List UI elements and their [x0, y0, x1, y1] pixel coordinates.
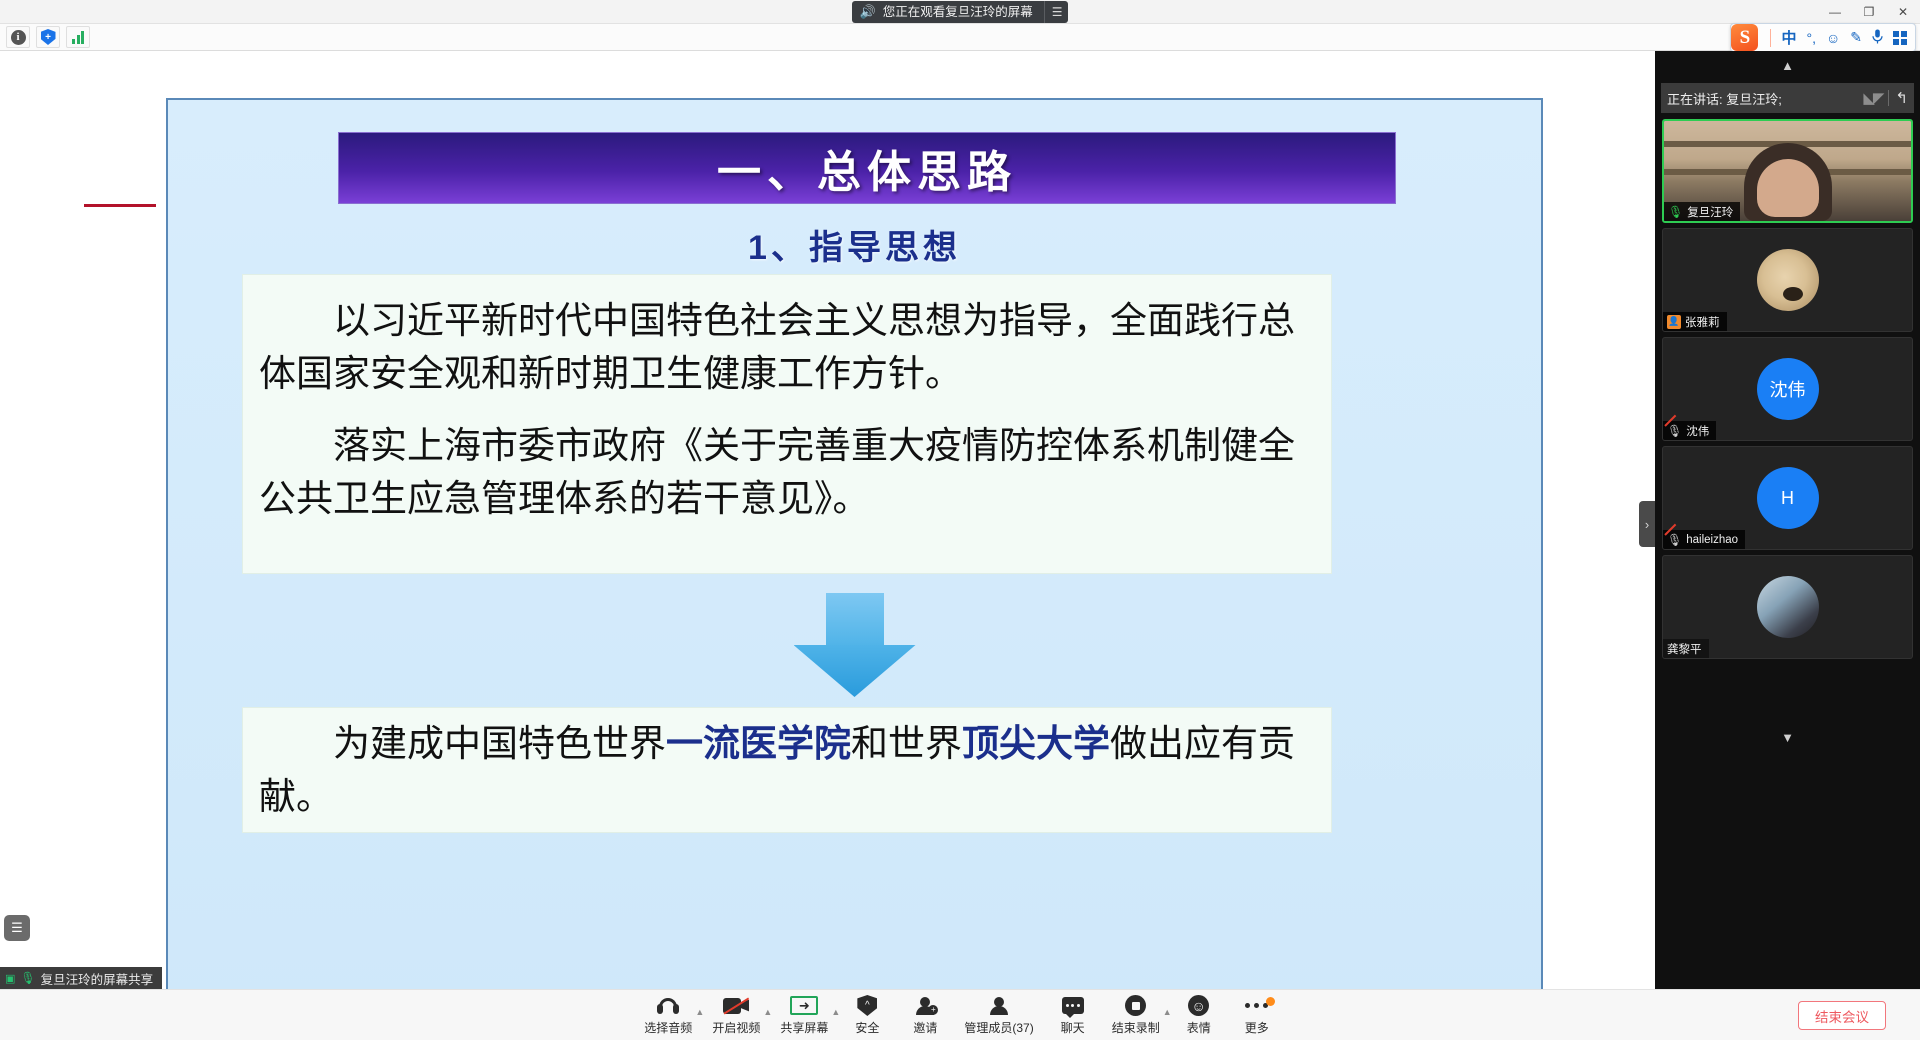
toolbar-label: 开启视频: [712, 1019, 760, 1036]
slide-paragraph-2: 落实上海市委市政府《关于完善重大疫情防控体系机制健全公共卫生应急管理体系的若干意…: [243, 400, 1331, 525]
security-button[interactable]: +: [36, 26, 60, 48]
hamburger-menu-icon[interactable]: ☰: [1044, 1, 1063, 23]
speaker-icon: 🔊: [860, 1, 876, 23]
toolbar-item-chat[interactable]: 聊天: [1044, 990, 1102, 1040]
participant-avatar: [1757, 249, 1819, 311]
participant-tile[interactable]: 龚黎平: [1662, 555, 1913, 659]
mic-small-icon: 🎙: [20, 971, 35, 985]
slide-conclusion: 为建成中国特色世界一流医学院和世界顶尖大学做出应有贡献。: [243, 708, 1331, 823]
conclusion-highlight-2: 顶尖大学: [962, 722, 1110, 765]
notification-badge: [1266, 997, 1275, 1006]
toolbar-item-share-screen[interactable]: ➜ 共享屏幕 ▲: [770, 990, 838, 1040]
participant-name: haileizhao: [1686, 534, 1738, 546]
slide-subtitle: 1、指导思想: [168, 220, 1541, 269]
participant-tile[interactable]: 🎙 复旦汪玲: [1662, 119, 1913, 223]
conclusion-highlight-1: 一流医学院: [666, 722, 851, 765]
mic-off-icon: 🎙: [1667, 424, 1682, 438]
info-button[interactable]: i: [6, 26, 30, 48]
toolbar-item-emoji[interactable]: ☺ 表情: [1170, 990, 1228, 1040]
participant-name: 复旦汪玲: [1687, 204, 1733, 220]
participant-name: 张雅莉: [1685, 314, 1720, 330]
toolbar-label: 更多: [1245, 1019, 1269, 1036]
meeting-toolbar: 选择音频 ▲ 开启视频 ▲ ➜ 共享屏幕 ▲ ^ 安全 + 邀请 管理成员(37…: [0, 989, 1920, 1040]
toolbar-label: 邀请: [913, 1019, 937, 1036]
active-speaker-label: 正在讲话: 复旦汪玲;: [1667, 89, 1857, 108]
conclusion-pre: 为建成中国特色世界: [333, 722, 666, 765]
ime-grid-icon[interactable]: [1893, 31, 1907, 45]
ime-punctuation-icon[interactable]: °,: [1806, 30, 1816, 46]
participant-tile[interactable]: H 🎙 haileizhao: [1662, 446, 1913, 550]
invite-person-icon: +: [915, 995, 935, 1017]
slide-title-banner: 一、总体思路: [338, 132, 1396, 204]
toolbar-label: 聊天: [1061, 1019, 1085, 1036]
ime-language-mode[interactable]: 中: [1781, 27, 1796, 48]
info-icon: i: [11, 30, 26, 45]
manage-members-icon: [989, 995, 1009, 1017]
network-button[interactable]: [66, 26, 90, 48]
headset-icon: [657, 995, 679, 1017]
screen-share-label: ▣ 🎙 复旦汪玲的屏幕共享: [0, 967, 162, 989]
shared-screen-stage: 一、总体思路 1、指导思想 以习近平新时代中国特色社会主义思想为指导，全面践行总…: [0, 51, 1655, 989]
participant-namebar: 龚黎平: [1663, 639, 1709, 658]
slide-body-box: 以习近平新时代中国特色社会主义思想为指导，全面践行总体国家安全观和新时期卫生健康…: [242, 274, 1332, 574]
toolbar-label: 表情: [1187, 1019, 1211, 1036]
mic-off-icon: 🎙: [1667, 533, 1682, 547]
participant-avatar: [1757, 576, 1819, 638]
watching-screen-pill[interactable]: 🔊 您正在观看复旦汪玲的屏幕 ☰: [852, 1, 1069, 23]
multi-view-icon[interactable]: ◣◤: [1863, 89, 1882, 107]
participant-avatar: H: [1757, 467, 1819, 529]
participant-tile[interactable]: 沈伟 🎙 沈伟: [1662, 337, 1913, 441]
presentation-slide: 一、总体思路 1、指导思想 以习近平新时代中国特色社会主义思想为指导，全面践行总…: [166, 98, 1543, 1013]
toolbar-item-video[interactable]: 开启视频 ▲: [702, 990, 770, 1040]
speaker-bar-divider: [1888, 90, 1889, 106]
chat-list-icon[interactable]: ☰: [4, 915, 30, 941]
toolbar-label: 结束录制: [1112, 1019, 1160, 1036]
share-screen-small-icon: ▣: [5, 972, 15, 985]
chat-icon: [1062, 995, 1084, 1017]
window-controls: — ❐ ✕: [1818, 0, 1920, 24]
toolbar-item-invite[interactable]: + 邀请: [896, 990, 954, 1040]
decor-line-left: [84, 204, 156, 207]
toolbar-item-audio[interactable]: 选择音频 ▲: [634, 990, 702, 1040]
ime-pen-icon[interactable]: ✎: [1850, 29, 1862, 46]
slide-paragraph-1: 以习近平新时代中国特色社会主义思想为指导，全面践行总体国家安全观和新时期卫生健康…: [243, 275, 1331, 400]
mic-on-icon: 🎙: [1668, 205, 1683, 219]
sogou-ime-toolbar[interactable]: S 中 °, ☺ ✎: [1730, 23, 1916, 52]
conclusion-mid: 和世界: [851, 722, 962, 765]
participant-namebar: 🎙 haileizhao: [1663, 530, 1745, 549]
ime-divider: [1770, 29, 1771, 47]
toolbar-item-more[interactable]: 更多: [1228, 990, 1286, 1040]
participant-name: 龚黎平: [1667, 641, 1702, 657]
participant-namebar: 👤 张雅莉: [1663, 312, 1727, 331]
toolbar-item-stop-record[interactable]: 结束录制 ▲: [1102, 990, 1170, 1040]
shield-plus-icon: +: [41, 29, 56, 45]
down-arrow-icon: [794, 593, 916, 697]
scroll-up-button[interactable]: ▲: [1655, 51, 1920, 79]
close-button[interactable]: ✕: [1886, 0, 1920, 24]
active-speaker-bar: 正在讲话: 复旦汪玲; ◣◤ ↰: [1661, 83, 1914, 113]
toolbar-item-security[interactable]: ^ 安全: [838, 990, 896, 1040]
participant-namebar: 🎙 复旦汪玲: [1664, 202, 1740, 221]
shield-icon: ^: [857, 995, 877, 1017]
minimize-button[interactable]: —: [1818, 0, 1852, 24]
participant-avatar: 沈伟: [1757, 358, 1819, 420]
restore-button[interactable]: ❐: [1852, 0, 1886, 24]
panel-collapse-handle[interactable]: ›: [1639, 501, 1655, 547]
sogou-logo-icon[interactable]: S: [1731, 24, 1758, 51]
tray-icon-group: i +: [6, 26, 90, 48]
window-title-bar: 🔊 您正在观看复旦汪玲的屏幕 ☰ — ❐ ✕: [0, 0, 1920, 24]
signal-bars-icon: [72, 31, 84, 44]
toolbar-item-manage-members[interactable]: 管理成员(37): [954, 990, 1043, 1040]
participant-tile[interactable]: 👤 张雅莉: [1662, 228, 1913, 332]
more-dots-icon: [1245, 995, 1268, 1017]
emoji-icon: ☺: [1188, 995, 1209, 1017]
scroll-down-button[interactable]: ▼: [1655, 723, 1920, 751]
slide-title: 一、总体思路: [717, 136, 1017, 200]
toolbar-label: 选择音频: [644, 1019, 692, 1036]
participant-namebar: 🎙 沈伟: [1663, 421, 1716, 440]
slide-conclusion-box: 为建成中国特色世界一流医学院和世界顶尖大学做出应有贡献。: [242, 707, 1332, 833]
participant-badge-icon: 👤: [1667, 315, 1681, 329]
participant-name: 沈伟: [1686, 423, 1709, 439]
ime-mic-icon[interactable]: [1872, 29, 1883, 47]
toolbar-label: 安全: [855, 1019, 879, 1036]
participants-panel: › ▲ 正在讲话: 复旦汪玲; ◣◤ ↰ 🎙 复旦汪玲 👤 张雅莉 沈伟: [1655, 51, 1920, 989]
back-icon[interactable]: ↰: [1895, 89, 1908, 107]
ime-emoji-icon[interactable]: ☺: [1826, 30, 1840, 46]
end-meeting-button[interactable]: 结束会议: [1798, 1001, 1886, 1030]
stop-record-icon: [1125, 995, 1146, 1017]
share-screen-icon: ➜: [790, 995, 818, 1017]
toolbar-label: 共享屏幕: [780, 1019, 828, 1036]
watching-screen-label: 您正在观看复旦汪玲的屏幕: [883, 1, 1033, 23]
toolbar-label: 管理成员(37): [964, 1019, 1033, 1036]
camera-off-icon: [723, 995, 749, 1017]
share-label-text: 复旦汪玲的屏幕共享: [41, 969, 154, 988]
tray-strip: i + S 中 °, ☺ ✎: [0, 24, 1920, 51]
